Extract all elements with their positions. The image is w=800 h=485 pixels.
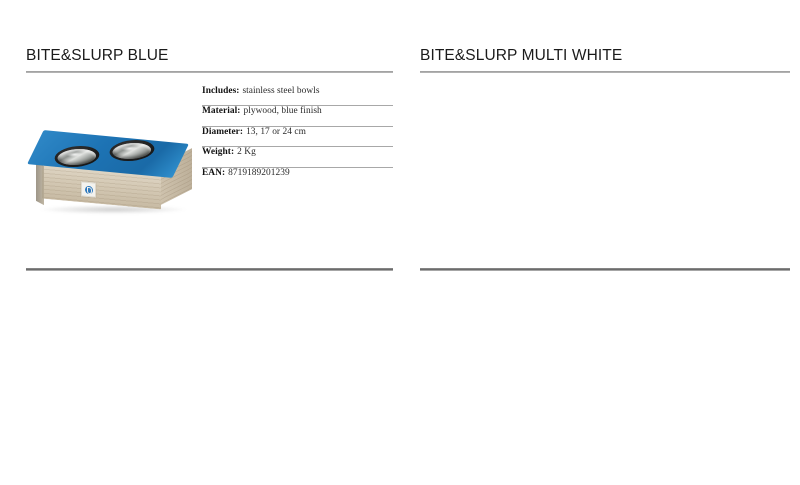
bowl-stand-illustration-blue [24, 131, 200, 223]
spec-row: Includes: stainless steel bowls [202, 86, 393, 106]
product-title-white: BITE&SLURP MULTI WHITE [420, 47, 622, 65]
box-left-edge [36, 162, 44, 205]
spec-label: Weight: [202, 147, 234, 157]
product-catalog-page: BITE&SLURP BLUE [0, 0, 800, 485]
spec-value: plywood, blue finish [243, 106, 321, 116]
spec-row: Material: plywood, blue finish [202, 106, 393, 126]
spec-value: 13, 17 or 24 cm [246, 127, 306, 137]
ground-shadow [40, 205, 186, 214]
spec-value: 2 Kg [237, 147, 256, 157]
spec-row: Diameter: 13, 17 or 24 cm [202, 127, 393, 147]
brand-logo-icon [81, 181, 96, 197]
product-photo-blue [24, 131, 200, 223]
spec-row: Weight: 2 Kg [202, 147, 393, 167]
spec-table-blue: Includes: stainless steel bowls Material… [202, 86, 393, 188]
spec-label: EAN: [202, 168, 225, 178]
spec-row: EAN: 8719189201239 [202, 168, 393, 188]
panel-bottom-rule-white [420, 268, 790, 271]
product-title-blue: BITE&SLURP BLUE [26, 47, 169, 65]
product-panel-white: BITE&SLURP MULTI WHITE [400, 0, 800, 485]
title-underline-rule-white [420, 71, 790, 73]
product-panel-blue: BITE&SLURP BLUE [0, 0, 400, 485]
spec-label: Diameter: [202, 127, 243, 137]
title-underline-rule-blue [26, 71, 393, 73]
brand-logo-mark [85, 185, 93, 194]
spec-value: stainless steel bowls [242, 86, 319, 96]
spec-label: Material: [202, 106, 240, 116]
spec-value: 8719189201239 [228, 168, 290, 178]
spec-label: Includes: [202, 86, 239, 96]
panel-bottom-rule-blue [26, 268, 393, 271]
